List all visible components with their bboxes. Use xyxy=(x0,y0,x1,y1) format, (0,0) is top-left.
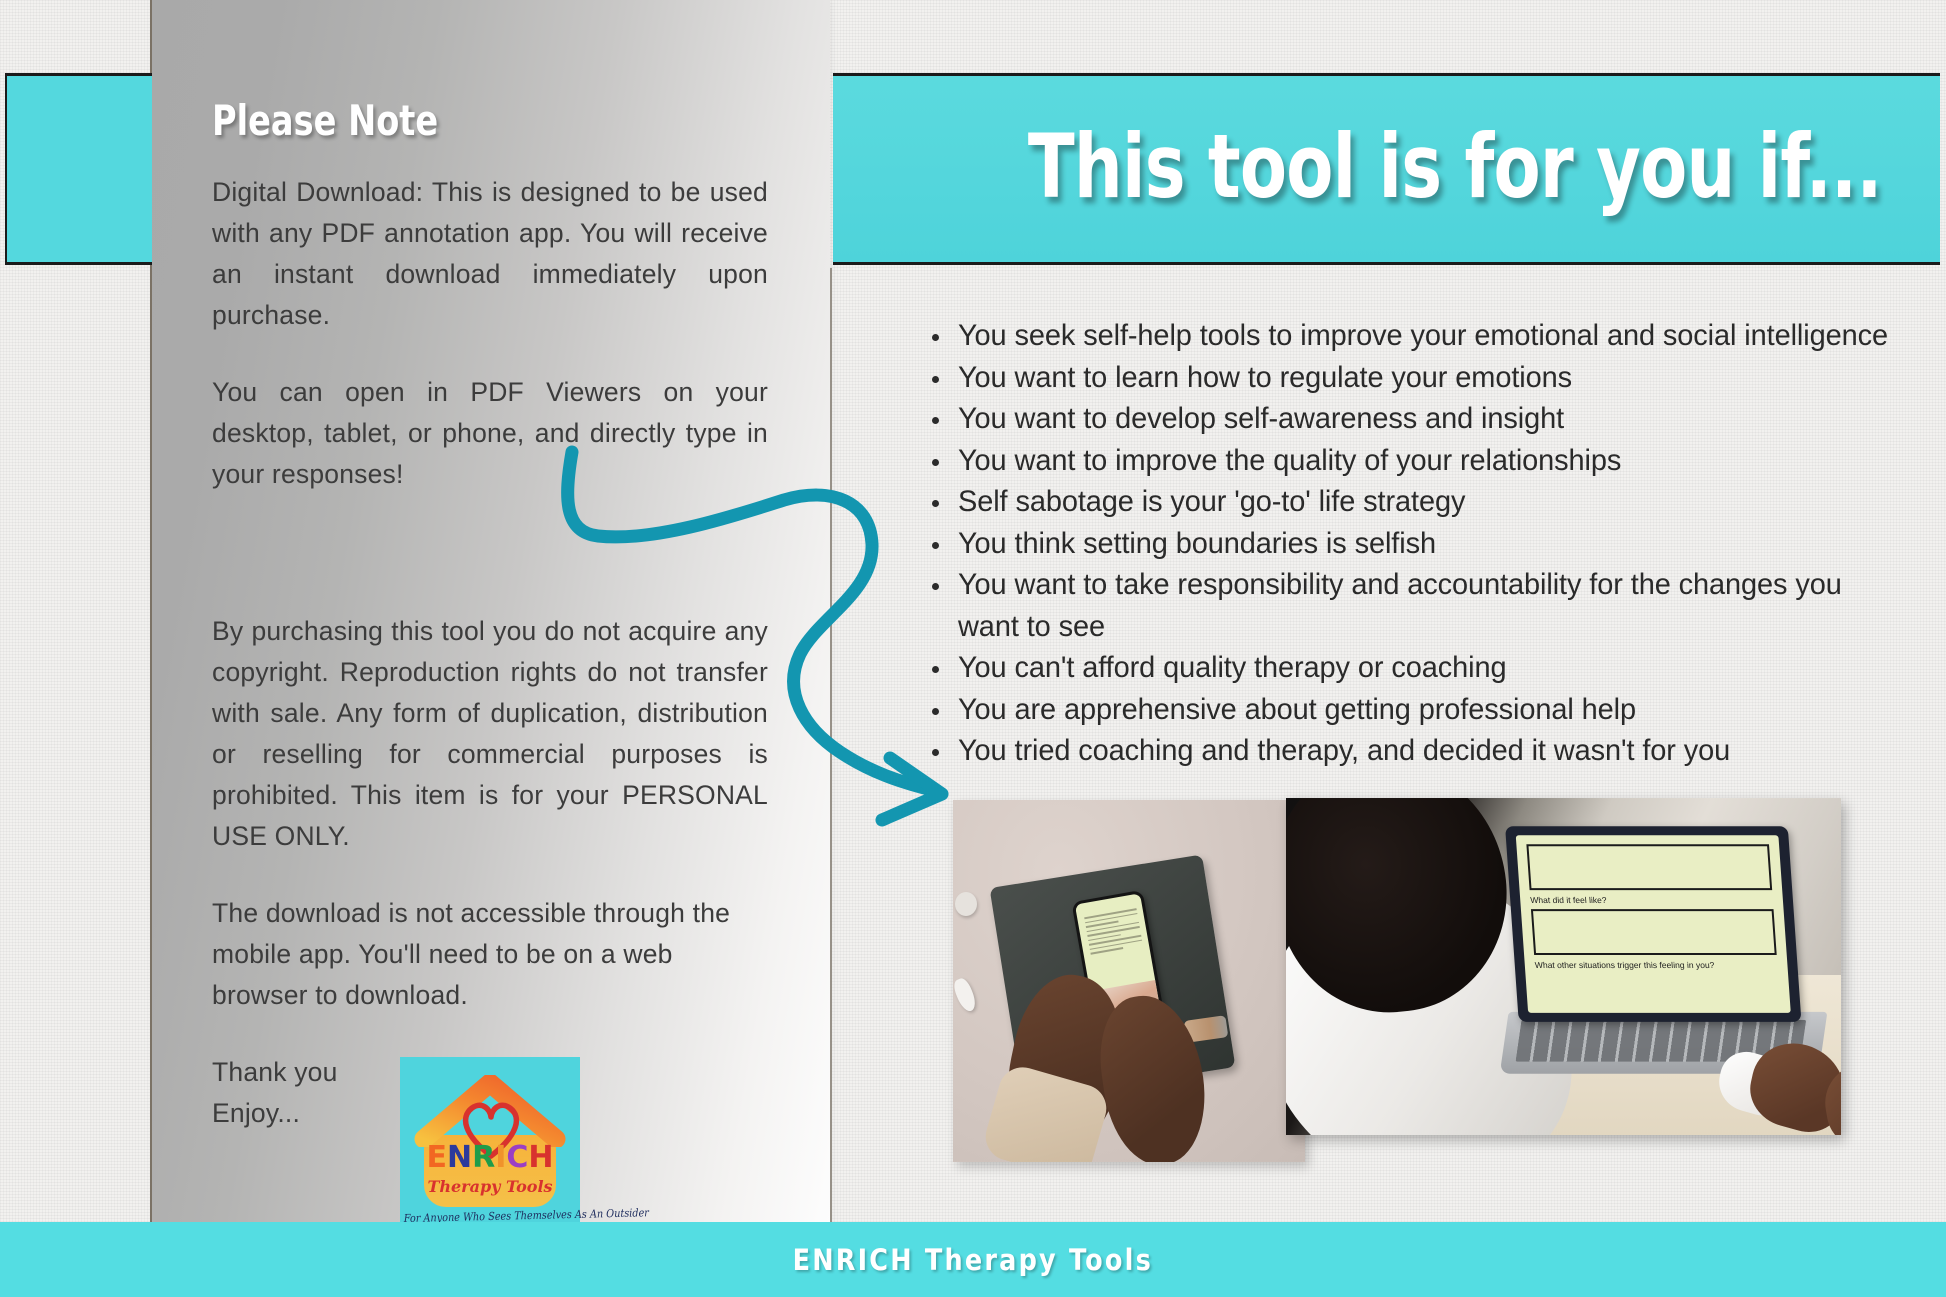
logo-letter-e-0: E xyxy=(426,1143,447,1173)
note-paragraph-copyright: By purchasing this tool you do not acqui… xyxy=(212,611,768,857)
footer-bar: ENRICH Therapy Tools xyxy=(0,1222,1946,1297)
page-title: This tool is for you if... xyxy=(1028,123,1882,211)
logo-letter-h-5: H xyxy=(528,1143,553,1173)
benefit-item-label: Self sabotage is your 'go-to' life strat… xyxy=(958,481,1465,523)
hero-banner: This tool is for you if... xyxy=(833,73,1940,265)
benefit-item-label: You think setting boundaries is selfish xyxy=(958,523,1436,565)
earbud-case xyxy=(955,892,977,916)
worksheet-question-2: What other situations trigger this feeli… xyxy=(1534,960,1777,970)
benefit-item-5: You think setting boundaries is selfish xyxy=(920,523,1930,565)
worksheet-question-1: What did it feel like? xyxy=(1530,895,1773,905)
benefit-item-label: You want to improve the quality of your … xyxy=(958,440,1621,482)
benefit-item-2: You want to develop self-awareness and i… xyxy=(920,398,1930,440)
phone-screen-text-lines xyxy=(1084,908,1143,957)
benefits-list: You seek self-help tools to improve your… xyxy=(920,315,1930,772)
benefit-item-label: You can't afford quality therapy or coac… xyxy=(958,647,1506,689)
logo-letter-r-2: R xyxy=(472,1143,495,1173)
benefit-item-label: You want to learn how to regulate your e… xyxy=(958,357,1572,399)
worksheet-answer-box-1 xyxy=(1526,844,1772,890)
enrich-logo: ENRICH Therapy Tools For Anyone Who Sees… xyxy=(400,1057,580,1235)
laptop: What did it feel like? What other situat… xyxy=(1505,826,1829,1070)
logo-letter-c-4: C xyxy=(506,1143,528,1173)
benefit-item-8: You are apprehensive about getting profe… xyxy=(920,689,1930,731)
benefit-item-label: You seek self-help tools to improve your… xyxy=(958,315,1888,357)
laptop-lid: What did it feel like? What other situat… xyxy=(1505,826,1801,1022)
benefit-item-3: You want to improve the quality of your … xyxy=(920,440,1930,482)
poster-canvas: This tool is for you if... Please Note D… xyxy=(0,0,1946,1297)
laptop-screen: What did it feel like? What other situat… xyxy=(1516,835,1791,1013)
benefit-item-label: You want to take responsibility and acco… xyxy=(958,564,1896,647)
note-paragraph-pdf-viewers: You can open in PDF Viewers on your desk… xyxy=(212,372,768,495)
benefit-item-label: You are apprehensive about getting profe… xyxy=(958,689,1636,731)
column-divider xyxy=(830,268,832,1223)
benefit-item-1: You want to learn how to regulate your e… xyxy=(920,357,1930,399)
spacer xyxy=(212,531,768,611)
photo-hands-holding-phone xyxy=(953,800,1305,1162)
worksheet-answer-box-2 xyxy=(1531,909,1777,955)
benefit-item-9: You tried coaching and therapy, and deci… xyxy=(920,730,1930,772)
logo-subtitle: Therapy Tools xyxy=(400,1177,580,1196)
left-column-content: Please Note Digital Download: This is de… xyxy=(212,100,768,1170)
footer-brand: ENRICH Therapy Tools xyxy=(793,1243,1153,1277)
logo-letter-n-1: N xyxy=(447,1143,472,1173)
photo-person-typing-laptop: What did it feel like? What other situat… xyxy=(1286,798,1841,1135)
note-paragraph-digital-download: Digital Download: This is designed to be… xyxy=(212,172,768,336)
benefit-item-0: You seek self-help tools to improve your… xyxy=(920,315,1930,357)
benefit-item-6: You want to take responsibility and acco… xyxy=(920,564,1930,647)
please-note-heading: Please Note xyxy=(212,100,438,142)
benefit-item-4: Self sabotage is your 'go-to' life strat… xyxy=(920,481,1930,523)
logo-wordmark: ENRICH xyxy=(400,1143,580,1173)
benefit-item-label: You want to develop self-awareness and i… xyxy=(958,398,1564,440)
turquoise-accent-block-left xyxy=(5,73,152,265)
logo-letter-i-3: I xyxy=(495,1143,506,1173)
note-paragraph-mobile-app: The download is not accessible through t… xyxy=(212,893,768,1016)
benefit-item-7: You can't afford quality therapy or coac… xyxy=(920,647,1930,689)
benefit-item-label: You tried coaching and therapy, and deci… xyxy=(958,730,1730,772)
